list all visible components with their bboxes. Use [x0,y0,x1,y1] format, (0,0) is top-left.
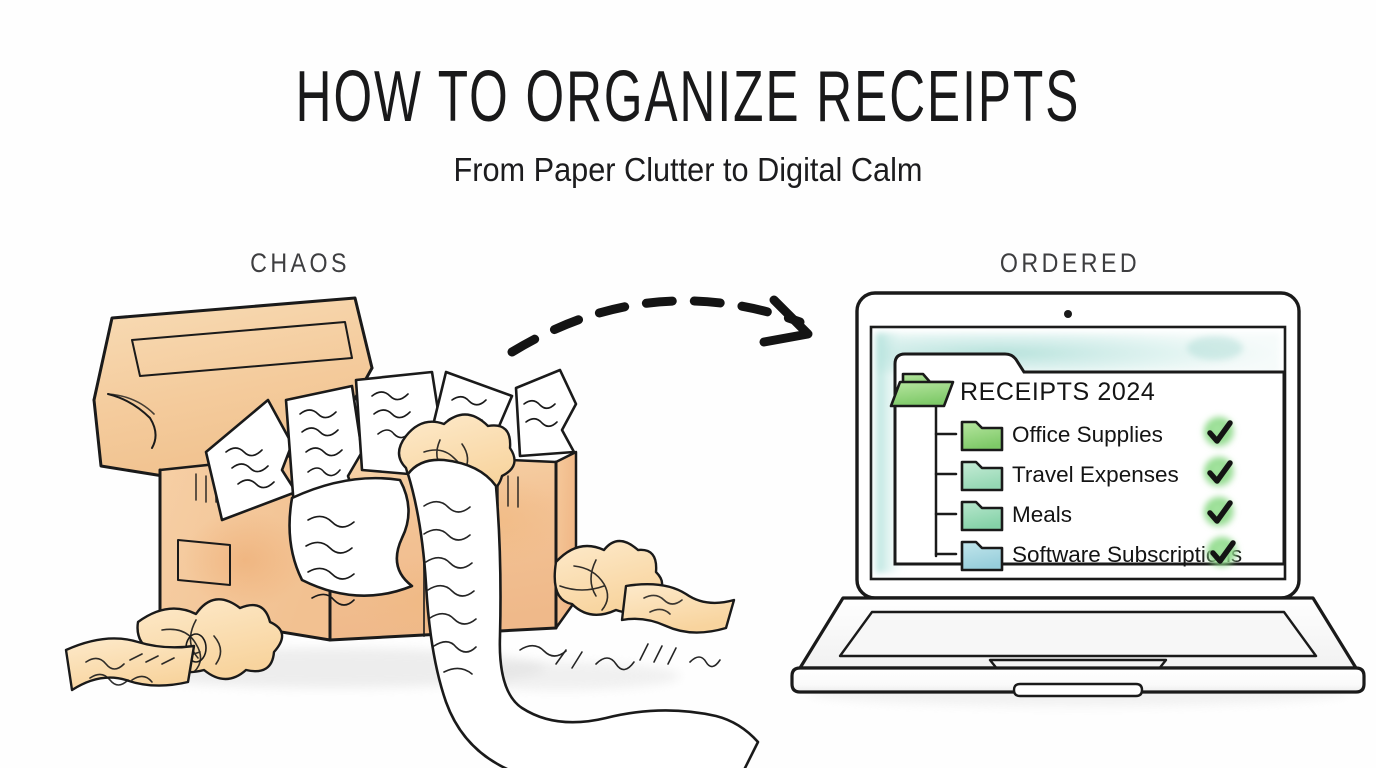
illustration-layer: RECEIPTS 2024 Office Supplies Travel Exp… [0,0,1376,768]
laptop-base [792,598,1364,696]
laptop-illustration: RECEIPTS 2024 Office Supplies Travel Exp… [792,293,1364,706]
keyboard-deck [840,612,1316,656]
chaos-illustration [66,298,758,768]
tree-item-label-2: Meals [1012,502,1072,527]
webcam-dot [1064,310,1072,318]
dashed-curved-arrow [512,300,808,352]
infographic-canvas: HOW TO ORGANIZE RECEIPTS From Paper Clut… [0,0,1376,768]
check-icon-3 [1207,537,1237,567]
crumpled-paper-right [555,541,734,633]
tree-item-label-0: Office Supplies [1012,422,1163,447]
check-icon-0 [1204,417,1234,447]
laptop-lid: RECEIPTS 2024 Office Supplies Travel Exp… [857,293,1299,598]
check-icon-1 [1204,457,1234,487]
tree-item-label-1: Travel Expenses [1012,462,1179,487]
base-notch [1014,684,1142,696]
check-icon-2 [1204,497,1234,527]
tree-root-label: RECEIPTS 2024 [960,378,1155,406]
